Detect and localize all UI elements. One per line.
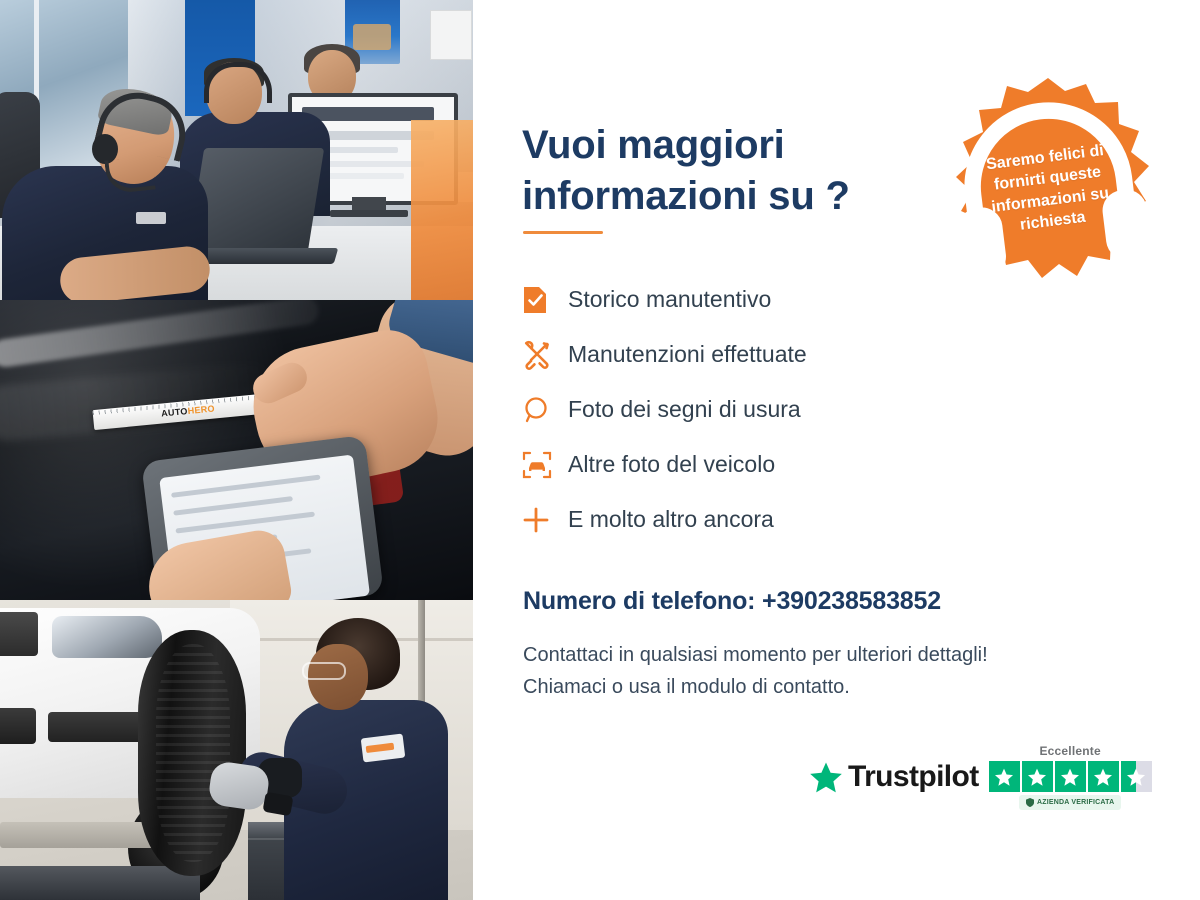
star-5-half bbox=[1121, 761, 1152, 792]
magnifier-icon bbox=[522, 395, 568, 425]
car-scan-icon bbox=[522, 450, 568, 480]
contact-line-2: Chiamaci o usa il modulo di contatto. bbox=[523, 671, 1143, 703]
vehicle-inspection-photo: AUTOHERO bbox=[0, 300, 473, 600]
feature-item-storico: Storico manutentivo bbox=[522, 272, 992, 327]
feature-item-manutenzioni: Manutenzioni effettuate bbox=[522, 327, 992, 382]
feature-label: Storico manutentivo bbox=[568, 286, 771, 313]
feature-item-altre-foto: Altre foto del veicolo bbox=[522, 437, 992, 492]
feature-label: Foto dei segni di usura bbox=[568, 396, 801, 423]
tool-cabinet-decor bbox=[0, 866, 200, 900]
car-grille-decor bbox=[0, 612, 38, 656]
trustpilot-rating: Eccellente bbox=[989, 744, 1152, 810]
tire-decor bbox=[138, 630, 246, 876]
photo-column: AUTOHERO bbox=[0, 0, 473, 900]
star-rating bbox=[989, 761, 1152, 792]
trustpilot-brand: Trustpilot bbox=[848, 760, 979, 794]
paper-decor bbox=[430, 10, 472, 60]
title-divider bbox=[523, 231, 603, 234]
trustpilot-star-icon bbox=[809, 761, 843, 794]
feature-label: Altre foto del veicolo bbox=[568, 451, 775, 478]
star-2 bbox=[1022, 761, 1053, 792]
monitor-base-decor bbox=[330, 210, 408, 217]
feature-item-foto-usura: Foto dei segni di usura bbox=[522, 382, 992, 437]
lower-grille-decor-2 bbox=[0, 708, 36, 744]
star-1 bbox=[989, 761, 1020, 792]
phone-number-line: Numero di telefono: +390238583852 bbox=[523, 587, 941, 616]
orange-object-decor bbox=[411, 120, 473, 300]
contact-line-1: Contattaci in qualsiasi momento per ulte… bbox=[523, 639, 1143, 671]
mechanic-wheel-photo bbox=[0, 600, 473, 900]
shield-icon bbox=[1026, 798, 1034, 807]
headlight-decor bbox=[52, 616, 162, 658]
verified-text: AZIENDA VERIFICATA bbox=[1037, 799, 1114, 806]
rating-label: Eccellente bbox=[1039, 744, 1100, 758]
trustpilot-logo: Trustpilot bbox=[809, 760, 979, 794]
callout-badge: Saremo felici di fornirti queste informa… bbox=[941, 74, 1156, 299]
trustpilot-widget[interactable]: Trustpilot Eccellente bbox=[809, 744, 1152, 810]
feature-label: E molto altro ancora bbox=[568, 506, 774, 533]
tools-icon bbox=[522, 340, 568, 370]
page-title: Vuoi maggiori informazioni su ? bbox=[522, 120, 942, 222]
plus-icon bbox=[522, 506, 568, 534]
car-gloss-decor bbox=[0, 300, 320, 369]
star-4 bbox=[1088, 761, 1119, 792]
mechanic-figure bbox=[288, 618, 458, 900]
feature-label: Manutenzioni effettuate bbox=[568, 341, 807, 368]
content-panel: Vuoi maggiori informazioni su ? Saremo f… bbox=[473, 0, 1200, 900]
feature-item-altro: E molto altro ancora bbox=[522, 492, 992, 547]
feature-list: Storico manutentivo M bbox=[522, 272, 992, 547]
promo-banner: AUTOHERO bbox=[0, 0, 1200, 900]
verified-badge: AZIENDA VERIFICATA bbox=[1019, 795, 1121, 810]
foreground-agent bbox=[8, 92, 218, 300]
star-3 bbox=[1055, 761, 1086, 792]
document-check-icon bbox=[522, 285, 568, 315]
call-center-agent-photo bbox=[0, 0, 473, 300]
contact-copy: Contattaci in qualsiasi momento per ulte… bbox=[523, 639, 1143, 704]
